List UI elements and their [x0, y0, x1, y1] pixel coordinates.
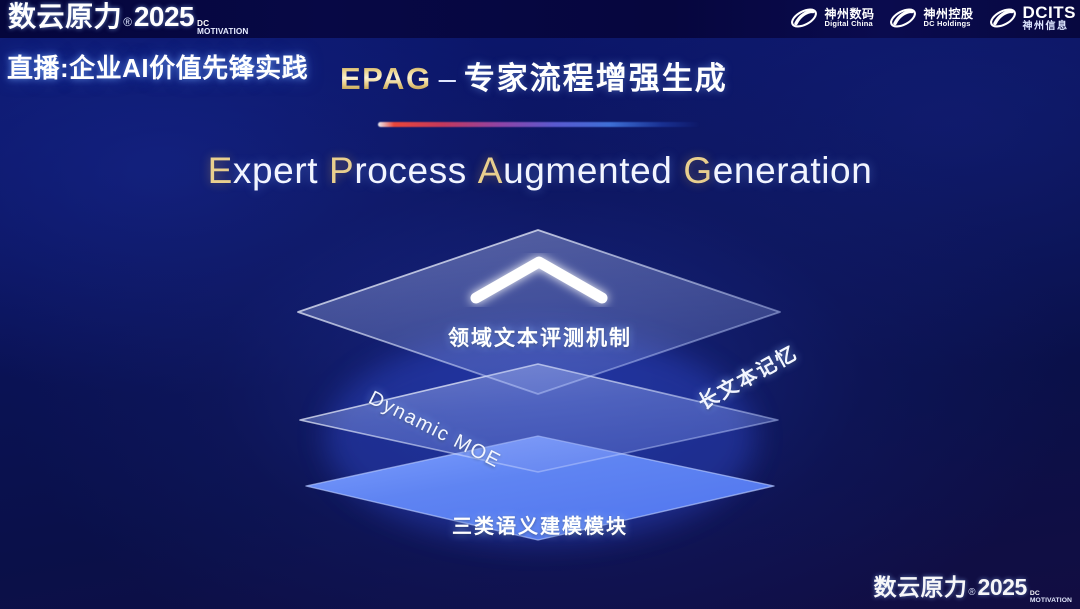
brand-tagline: DC MOTIVATION — [197, 20, 248, 37]
partner-text: 神州控股 DC Holdings — [923, 8, 973, 28]
brand-chinese-name: 数云原力 — [8, 3, 122, 31]
swoosh-icon — [988, 5, 1018, 31]
subtitle-word-augmented: Augmented — [478, 150, 673, 191]
subtitle-word-generation: Generation — [683, 150, 872, 191]
brand-year: 2025 — [134, 3, 194, 31]
subtitle-cap: A — [478, 150, 503, 191]
partner-text: DCITS 神州信息 — [1023, 4, 1077, 32]
subtitle-word-expert: Expert — [208, 150, 319, 191]
partner-logo-group: 神州数码 Digital China 神州控股 DC Holdings — [789, 2, 1076, 34]
subtitle-space — [672, 150, 683, 191]
subtitle-rest: eneration — [713, 150, 873, 191]
title-chinese: 专家流程增强生成 — [464, 61, 728, 96]
brand-registered-mark: ® — [968, 588, 975, 598]
subtitle-english: Expert Process Augmented Generation — [0, 150, 1080, 192]
gradient-divider — [378, 122, 700, 127]
subtitle-rest: xpert — [233, 150, 318, 191]
live-stream-title: 直播:企业AI价值先锋实践 — [7, 48, 308, 85]
layer-top-plate — [298, 230, 780, 394]
stack-layer-top — [298, 230, 780, 394]
partner-name-en: 神州信息 — [1023, 22, 1077, 33]
brand-logo-watermark: 数云原力 ® 2025 DC MOTIVATION — [874, 576, 1072, 605]
brand-tagline: DC MOTIVATION — [1030, 591, 1072, 605]
brand-tagline-line2: MOTIVATION — [1030, 598, 1072, 605]
partner-text: 神州数码 Digital China — [824, 8, 874, 28]
subtitle-space — [318, 150, 329, 191]
slide-canvas: 数云原力 ® 2025 DC MOTIVATION 神州数码 Digital C… — [0, 0, 1080, 609]
partner-name-en: Digital China — [824, 20, 874, 28]
brand-registered-mark: ® — [123, 17, 132, 29]
swoosh-icon — [789, 5, 819, 31]
page-title: EPAG–专家流程增强生成 — [340, 53, 728, 98]
subtitle-cap: G — [683, 150, 712, 191]
subtitle-space — [467, 150, 478, 191]
layer-stack-diagram: 领域文本评测机制 Dynamic MOE 长文本记忆 三类语义建模模块 — [280, 222, 800, 572]
title-dash: – — [439, 61, 457, 96]
brand-logo-top: 数云原力 ® 2025 DC MOTIVATION — [8, 3, 248, 37]
subtitle-cap: P — [329, 150, 354, 191]
subtitle-cap: E — [208, 150, 233, 191]
subtitle-word-process: Process — [329, 150, 467, 191]
brand-year: 2025 — [978, 576, 1027, 599]
brand-chinese-name: 数云原力 — [874, 576, 968, 599]
title-acronym: EPAG — [340, 61, 432, 96]
partner-name-en: DC Holdings — [923, 20, 973, 28]
swoosh-icon — [888, 5, 918, 31]
partner-logo-dcits: DCITS 神州信息 — [988, 2, 1077, 34]
brand-tagline-line2: MOTIVATION — [197, 28, 248, 36]
subtitle-rest: rocess — [354, 150, 467, 191]
subtitle-rest: ugmented — [503, 150, 672, 191]
partner-name-cn: DCITS — [1023, 4, 1077, 22]
partner-logo-digital-china: 神州数码 Digital China — [789, 2, 874, 34]
partner-logo-dc-holdings: 神州控股 DC Holdings — [888, 2, 973, 34]
